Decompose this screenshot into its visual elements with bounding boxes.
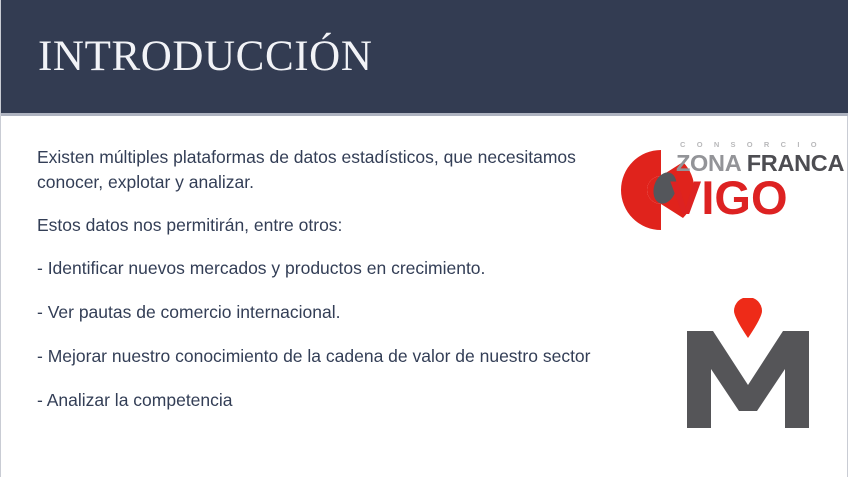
bullet-analizar-competencia: - Analizar la competencia: [37, 388, 597, 413]
bullet-cadena-de-valor: - Mejorar nuestro conocimiento de la cad…: [37, 344, 597, 369]
slide-body-text: Existen múltiples plataformas de datos e…: [37, 145, 597, 413]
bullet-identificar-mercados: - Identificar nuevos mercados y producto…: [37, 256, 597, 281]
page-title: INTRODUCCIÓN: [38, 31, 372, 83]
consorcio-label: C O N S O R C I O: [676, 140, 826, 150]
vigo-word: VIGO: [670, 174, 826, 221]
bullet-pautas-comercio: - Ver pautas de comercio internacional.: [37, 300, 597, 325]
zona-franca-wordmark: C O N S O R C I O ZONA FRANCA VIGO: [676, 140, 826, 221]
presentation-slide: INTRODUCCIÓN Existen múltiples plataform…: [0, 0, 848, 477]
paragraph-intro: Existen múltiples plataformas de datos e…: [37, 145, 597, 195]
consorcio-zona-franca-vigo-logo: C O N S O R C I O ZONA FRANCA VIGO: [621, 140, 821, 238]
paragraph-lead-in: Estos datos nos permitirán, entre otros:: [37, 213, 597, 238]
letter-m-icon: [687, 331, 809, 428]
m-map-pin-logo: [687, 298, 809, 428]
header-divider-rule: [1, 113, 848, 116]
logo-column: C O N S O R C I O ZONA FRANCA VIGO: [621, 140, 841, 428]
